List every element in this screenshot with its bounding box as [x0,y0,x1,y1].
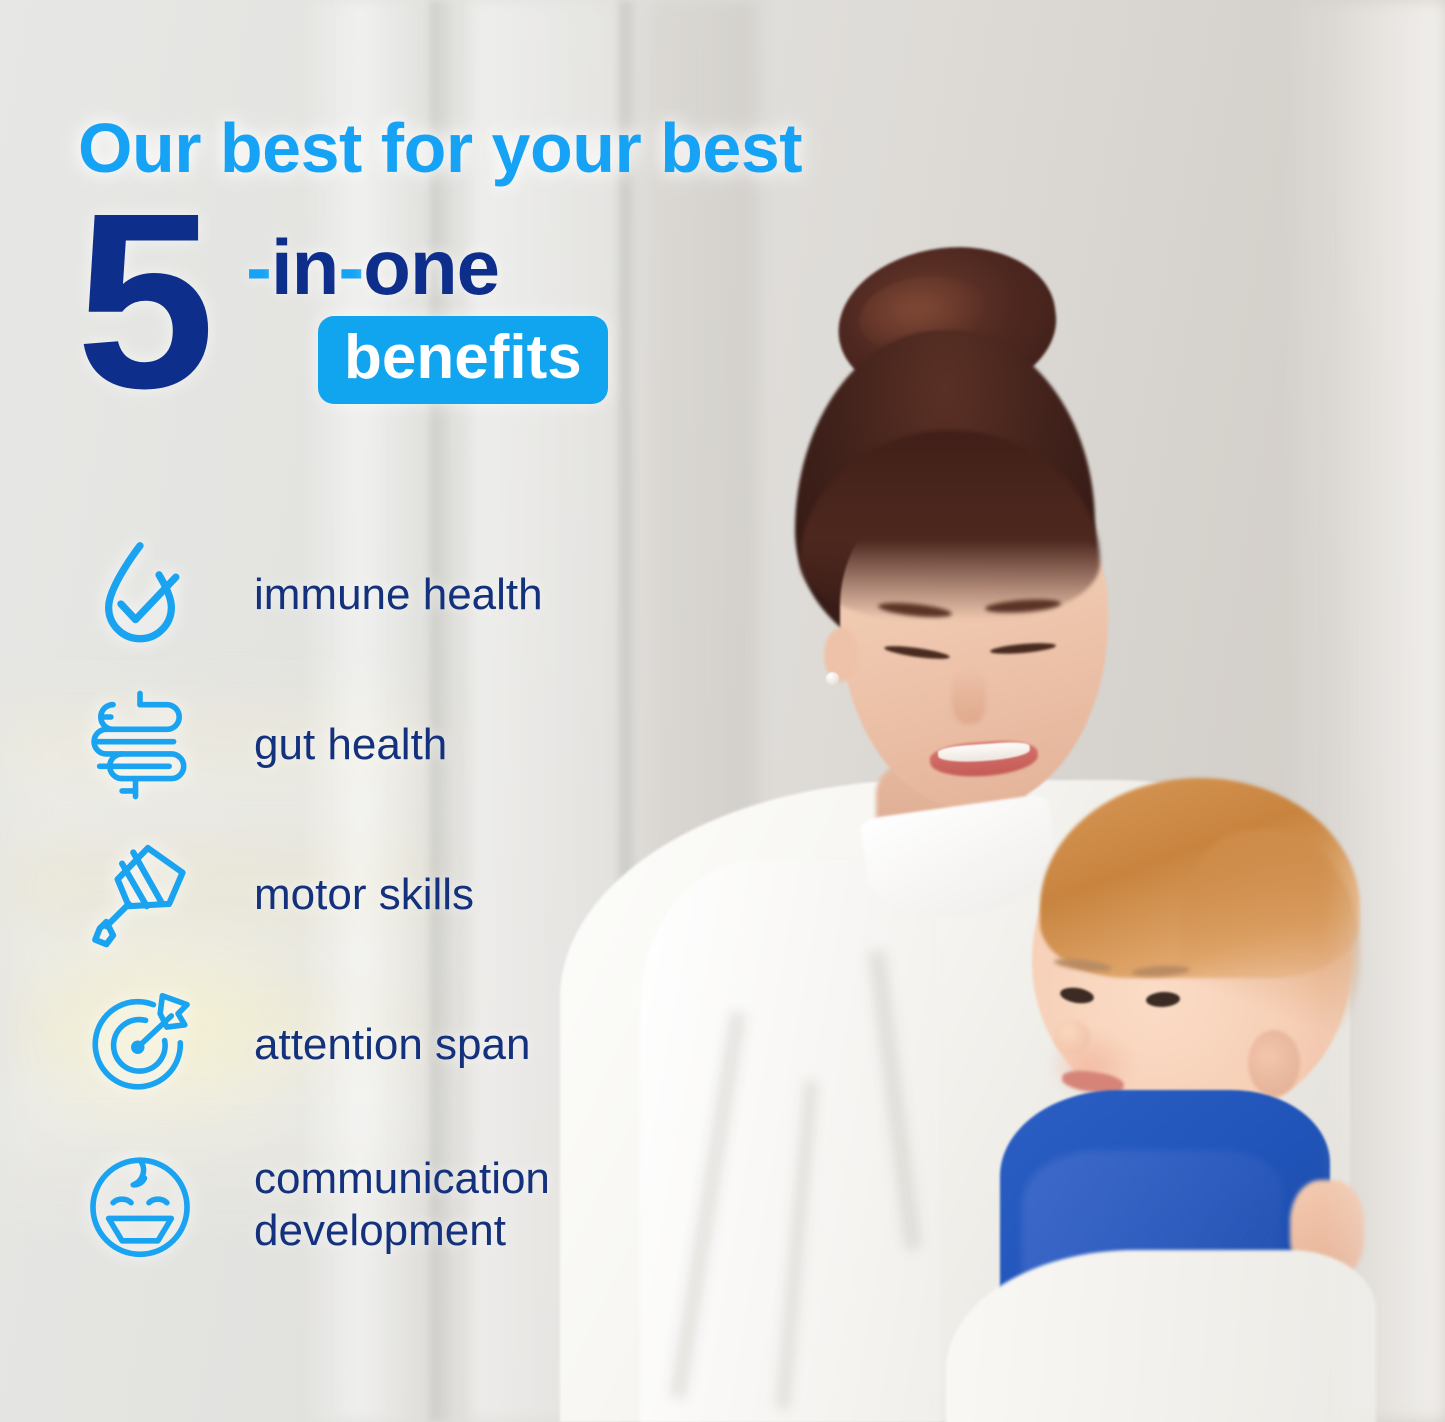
dash-1: - [246,223,271,311]
rattle-icon [84,839,196,951]
benefits-list: immune health gut health [84,520,724,1290]
baby-face-icon [84,1149,196,1261]
benefit-label: immune health [254,569,543,621]
number-five: 5 [76,196,205,406]
benefit-item-motor-skills: motor skills [84,820,724,970]
target-dart-icon [84,989,196,1101]
benefits-badge-label: benefits [344,324,582,392]
dash-2: - [338,223,363,311]
benefit-item-communication-development: communicationdevelopment [84,1120,724,1290]
intestine-icon [84,689,196,801]
benefit-item-attention-span: attention span [84,970,724,1120]
benefits-badge: benefits [318,316,608,404]
in-word: in [271,223,338,311]
droplet-check-icon [84,539,196,651]
one-word: one [363,223,499,311]
benefit-label: motor skills [254,869,474,921]
benefit-item-gut-health: gut health [84,670,724,820]
benefit-item-immune-health: immune health [84,520,724,670]
benefit-label: communicationdevelopment [254,1153,550,1257]
in-one-text: -in-one [246,222,499,313]
five-in-one-block: 5 -in-one benefits [76,196,696,466]
benefit-label: gut health [254,719,447,771]
benefit-label: attention span [254,1019,530,1071]
